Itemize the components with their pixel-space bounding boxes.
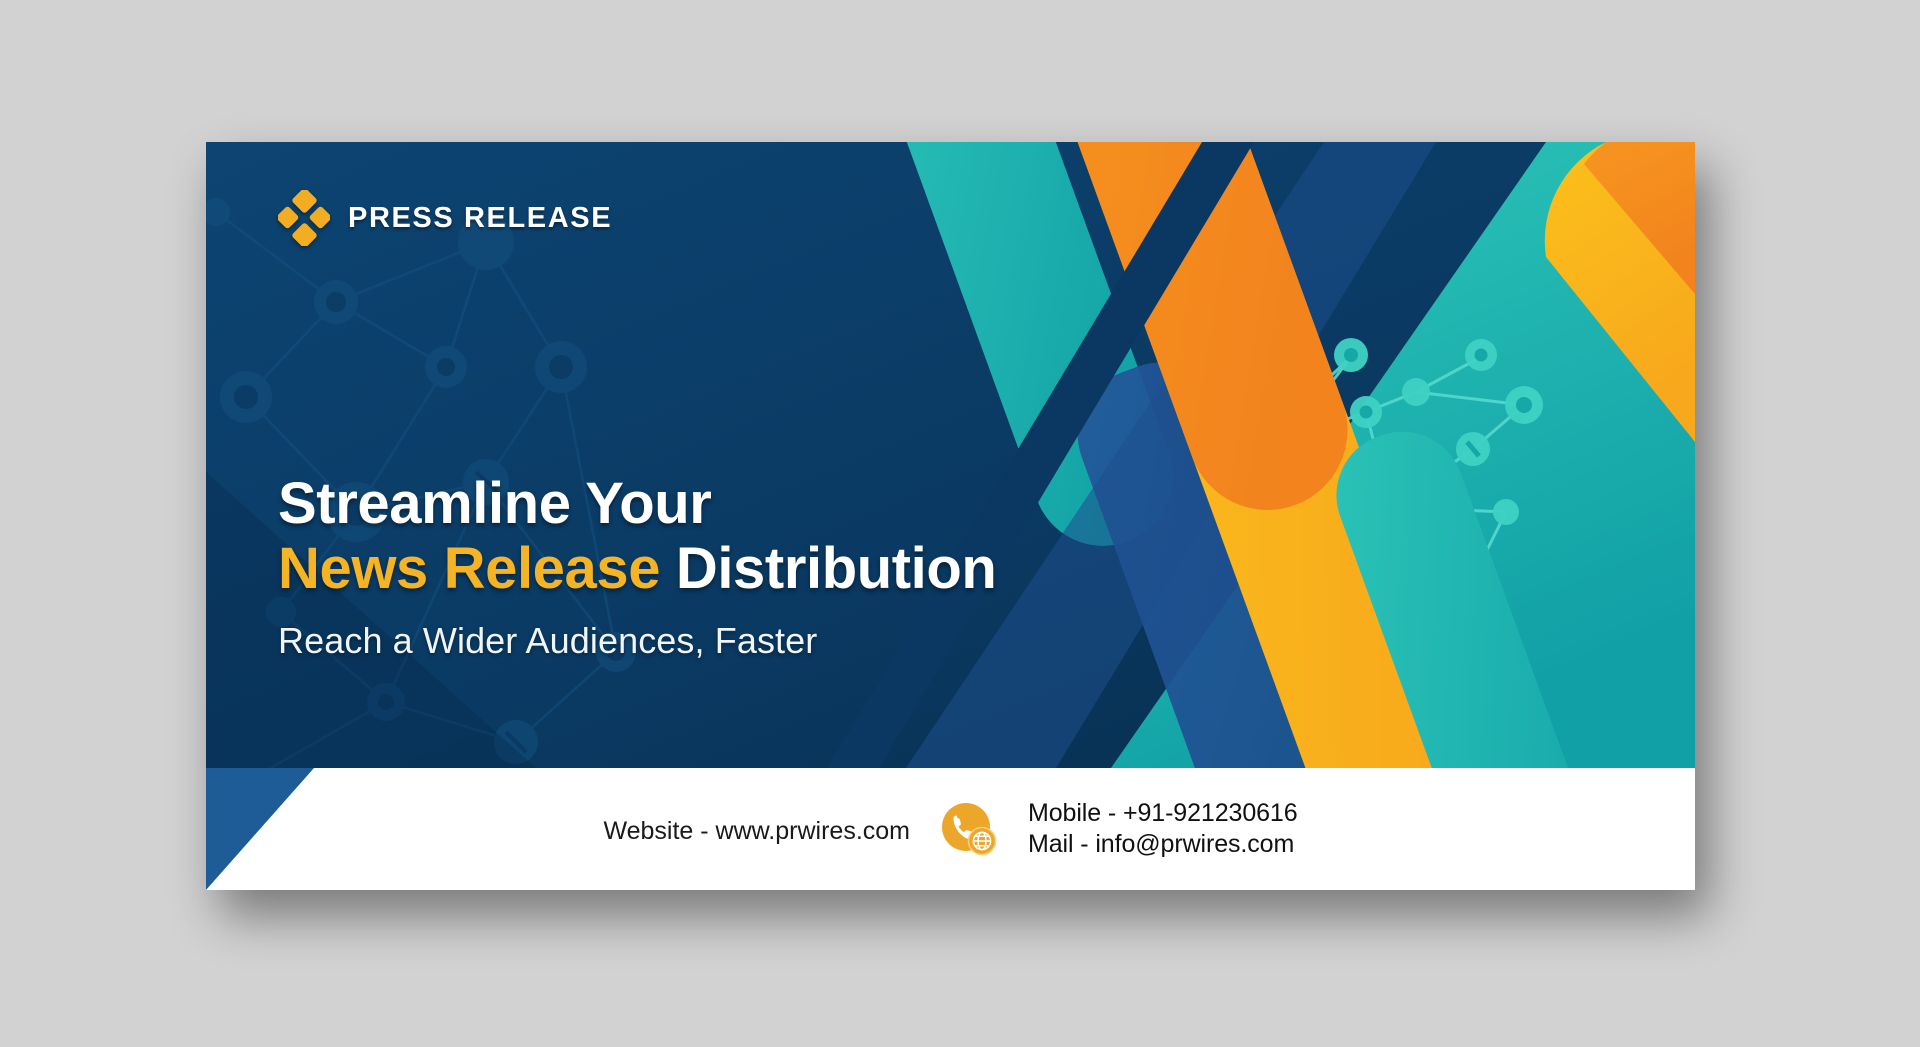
contact-details: Mobile - +91-921230616 Mail - info@prwir… bbox=[1028, 799, 1298, 859]
brand-lockup: PRESS RELEASE bbox=[278, 190, 612, 246]
logo-diamonds bbox=[278, 190, 330, 246]
headline-line-1: Streamline Your bbox=[278, 472, 996, 537]
website-label[interactable]: Website - www.prwires.com bbox=[603, 817, 910, 846]
headline-block: Streamline Your News Release Distributio… bbox=[278, 472, 996, 662]
footer-contact-row: Website - www.prwires.com Mobil bbox=[206, 768, 1695, 890]
mail-label[interactable]: Mail - info@prwires.com bbox=[1028, 830, 1298, 859]
phone-icon-graphic bbox=[938, 798, 1000, 860]
headline-subtitle: Reach a Wider Audiences, Faster bbox=[278, 620, 996, 662]
headline-rest: Distribution bbox=[676, 536, 997, 601]
mobile-label[interactable]: Mobile - +91-921230616 bbox=[1028, 799, 1298, 828]
press-release-banner: PRESS RELEASE Streamline Your News Relea… bbox=[206, 142, 1695, 890]
four-diamond-hexagon-logo-icon bbox=[278, 190, 330, 246]
brand-name: PRESS RELEASE bbox=[348, 202, 612, 235]
banner-footer: Website - www.prwires.com Mobil bbox=[206, 768, 1695, 890]
headline-highlight: News Release bbox=[278, 536, 660, 601]
phone-globe-icon bbox=[938, 798, 1000, 860]
headline-line-2: News Release Distribution bbox=[278, 537, 996, 602]
